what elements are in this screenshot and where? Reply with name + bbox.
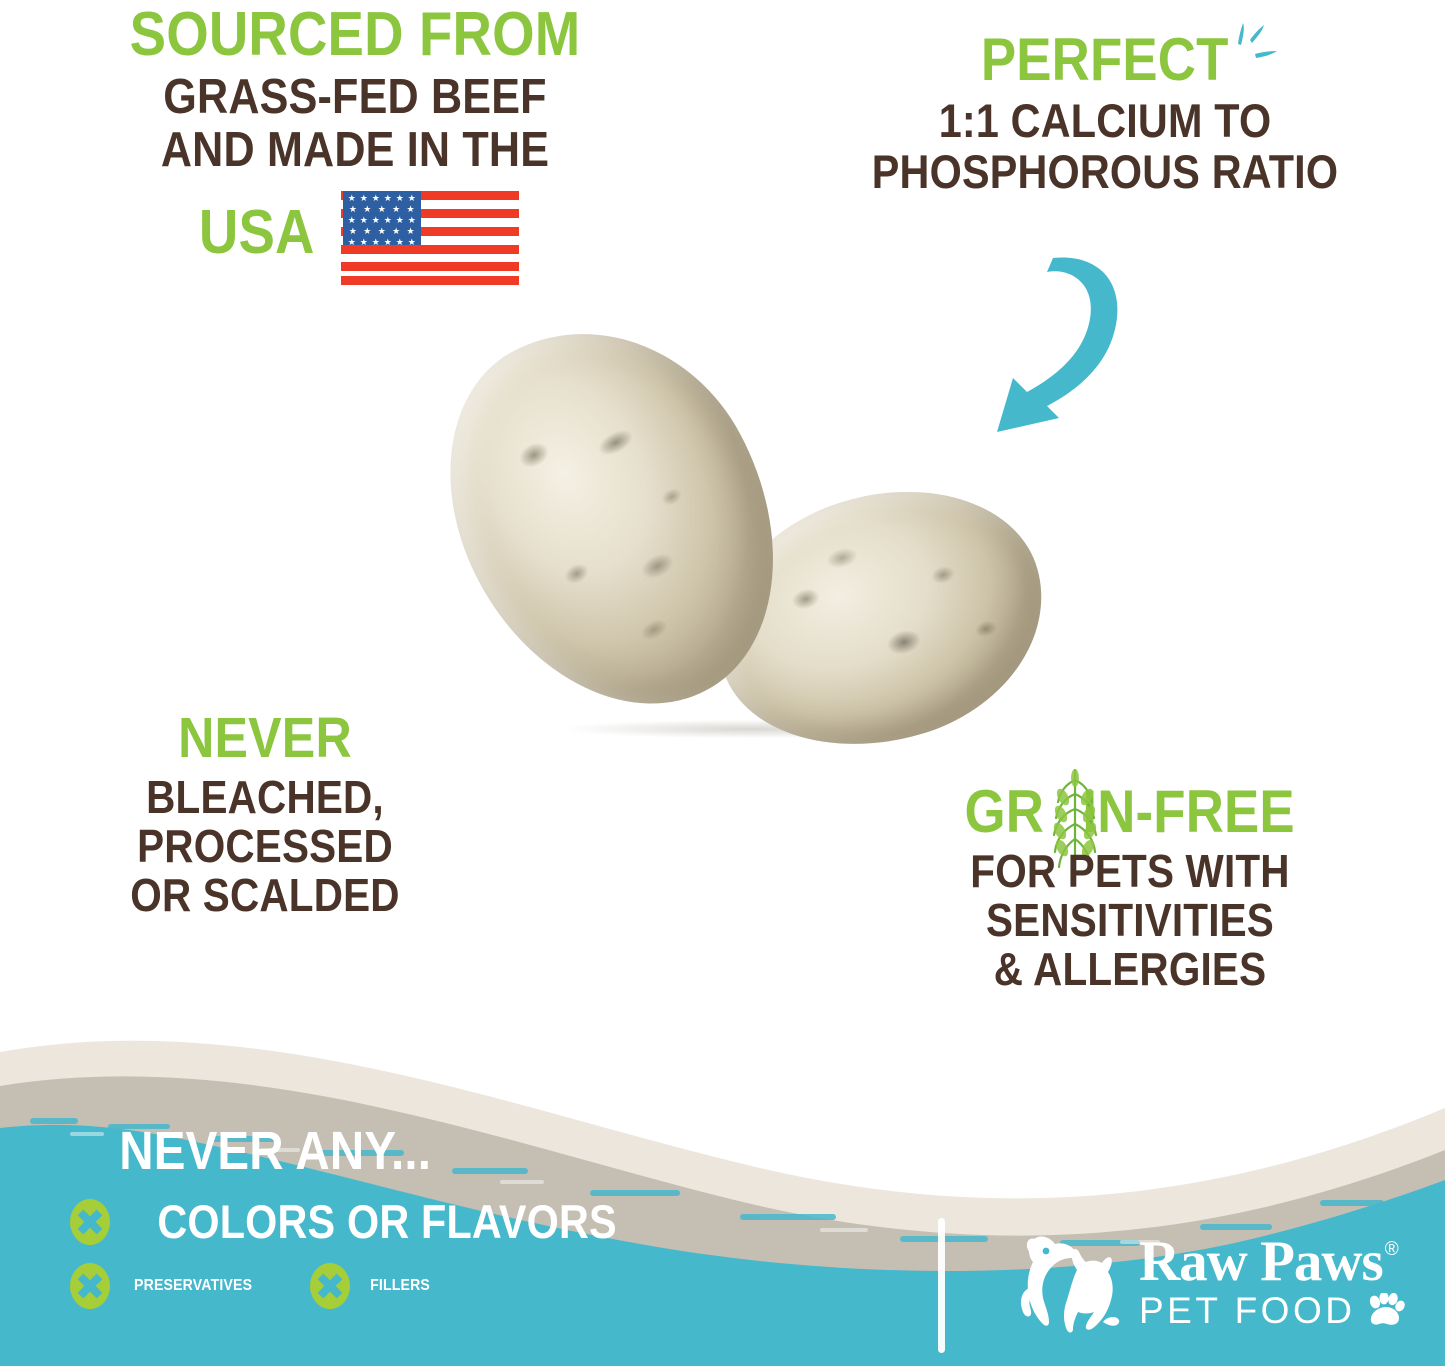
never-line-1: NEVER xyxy=(67,710,463,767)
never-line-3: PROCESSED xyxy=(67,823,463,869)
bullet-row-2: PRESERVATIVES FILLERS xyxy=(70,1263,890,1309)
grain-line-1-suffix: IN-FREE xyxy=(1083,778,1295,845)
banner-title: NEVER ANY... xyxy=(119,1124,841,1178)
grain-line-4: & ALLERGIES xyxy=(914,946,1345,992)
sourced-from-block: SOURCED FROM GRASS-FED BEEF AND MADE IN … xyxy=(55,4,655,285)
banner-bullet-list: COLORS OR FLAVORS PRESERVATIVES FILLERS xyxy=(70,1198,890,1309)
perfect-ratio-block: PERFECT 1:1 CALCIUM TO PHOSPHOROUS RATIO xyxy=(795,30,1415,195)
logo-text-group: Raw Paws ® PET FOOD xyxy=(1139,1235,1405,1328)
logo-brand-name: Raw Paws xyxy=(1139,1235,1383,1289)
brand-logo: Raw Paws ® PET FOOD xyxy=(1015,1212,1415,1352)
x-badge-icon xyxy=(70,1263,110,1309)
dog-cat-silhouette-icon xyxy=(1015,1226,1123,1338)
x-badge-icon xyxy=(310,1263,350,1309)
perfect-line-3: PHOSPHOROUS RATIO xyxy=(832,148,1378,195)
us-flag-icon: ★★★★★★ ★★★★★ ★★★★★★ ★★★★★ ★★★★★★ xyxy=(341,187,519,285)
grain-line-3: SENSITIVITIES xyxy=(914,897,1345,943)
logo-divider xyxy=(938,1218,945,1353)
bullet-colors-or-flavors: COLORS OR FLAVORS xyxy=(157,1198,616,1245)
bullet-preservatives: PRESERVATIVES xyxy=(134,1278,252,1294)
logo-brand-row: Raw Paws ® xyxy=(1139,1235,1405,1289)
logo-tagline: PET FOOD xyxy=(1139,1292,1355,1329)
never-line-4: OR SCALDED xyxy=(67,872,463,918)
perfect-line-2: 1:1 CALCIUM TO xyxy=(832,97,1378,144)
logo-tagline-row: PET FOOD xyxy=(1139,1292,1405,1329)
bullet-fillers: FILLERS xyxy=(370,1278,430,1294)
grain-line-1: GRAIN-FREE xyxy=(965,782,1295,842)
paw-print-icon xyxy=(1367,1293,1405,1327)
sourced-line-1: SOURCED FROM xyxy=(91,4,619,66)
never-line-2: BLEACHED, xyxy=(67,774,463,820)
sourced-line-4: USA xyxy=(199,202,315,264)
grain-free-block: GRAIN-FREE xyxy=(885,782,1375,992)
infographic-canvas: SOURCED FROM GRASS-FED BEEF AND MADE IN … xyxy=(0,0,1445,1366)
product-nuggets-photo xyxy=(430,318,1120,768)
usa-row: USA ★★★★★★ ★★★★★ ★★★★★★ ★★★★★ ★★★★★★ xyxy=(55,181,655,285)
never-bleached-block: NEVER BLEACHED, PROCESSED OR SCALDED xyxy=(40,710,490,918)
bullet-row-1: COLORS OR FLAVORS xyxy=(70,1198,890,1245)
sparkle-icon xyxy=(1224,14,1286,76)
grain-line-2: FOR PETS WITH xyxy=(914,848,1345,894)
logo-registered-mark: ® xyxy=(1385,1239,1399,1261)
sourced-line-2: GRASS-FED BEEF xyxy=(91,73,619,122)
perfect-line-1: PERFECT xyxy=(981,30,1229,90)
grain-line-1-prefix: GR xyxy=(965,778,1045,845)
never-any-block: NEVER ANY... COLORS OR FLAVORS PRESERVAT… xyxy=(70,1124,890,1309)
sourced-line-3: AND MADE IN THE xyxy=(91,126,619,175)
x-badge-icon xyxy=(70,1199,110,1245)
